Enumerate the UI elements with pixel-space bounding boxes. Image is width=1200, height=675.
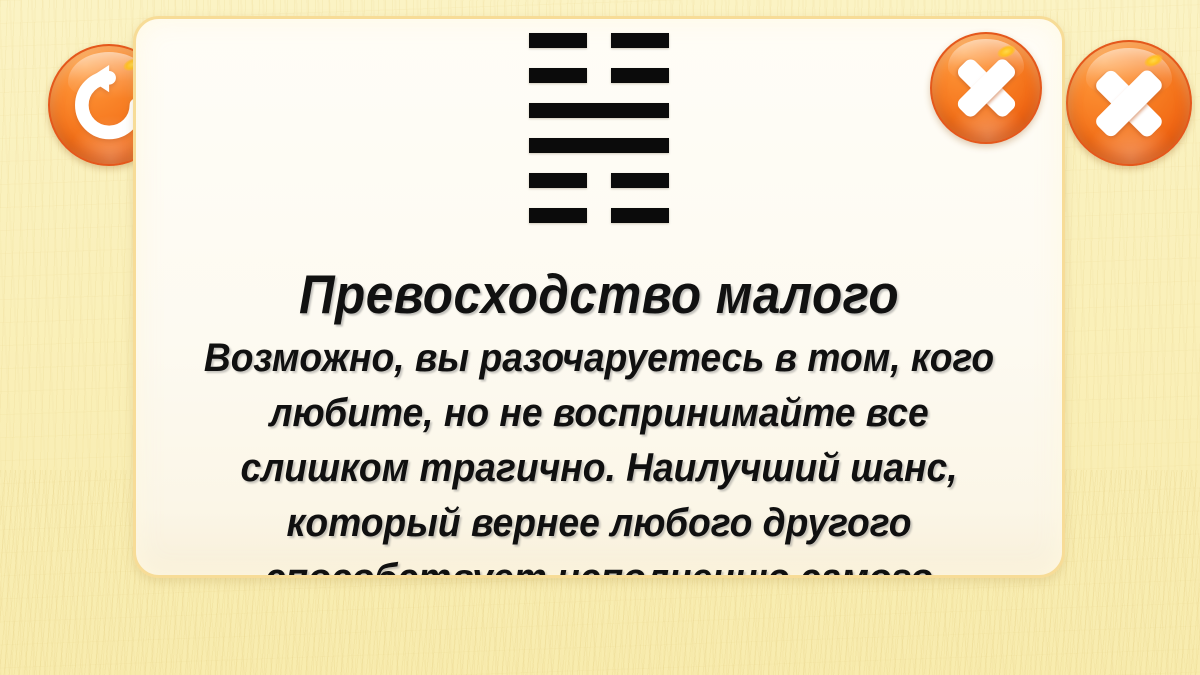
hexagram-line-1 — [529, 208, 669, 223]
hexagram-line-2 — [529, 173, 669, 188]
close-icon — [1068, 42, 1190, 164]
page-title: Превосходство малого — [197, 263, 1002, 325]
hexagram-line-4 — [529, 103, 669, 118]
orb-highlight-spark — [996, 43, 1018, 60]
close-icon — [932, 34, 1040, 142]
app-screen: Превосходство малого Возможно, вы разоча… — [0, 0, 1200, 675]
hexagram-line-5 — [529, 68, 669, 83]
hexagram-62-xiao-guo — [529, 33, 669, 223]
card-text-block: Превосходство малого Возможно, вы разоча… — [136, 263, 1062, 578]
orb-highlight-spark — [1143, 52, 1165, 69]
hexagram-line-3 — [529, 138, 669, 153]
card-body-text: Возможно, вы разочаруетесь в том, кого л… — [183, 331, 1014, 578]
hexagram-line-6 — [529, 33, 669, 48]
fortune-card: Превосходство малого Возможно, вы разоча… — [133, 16, 1065, 578]
close-button[interactable] — [930, 32, 1042, 144]
close-button-secondary[interactable] — [1066, 40, 1192, 166]
